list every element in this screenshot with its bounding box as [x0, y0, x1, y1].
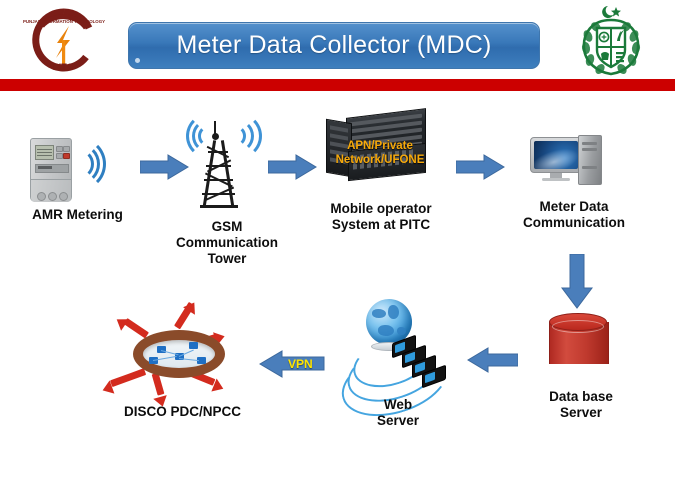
desktop-computer-icon	[530, 135, 602, 185]
page-title-banner: Meter Data Collector (MDC)	[128, 22, 540, 69]
pitc-logo-icon: PUNJAB INFORMATION TECHNOLOGY PITC	[22, 4, 106, 76]
government-emblem-icon	[575, 2, 647, 78]
network-wheel-icon	[111, 316, 246, 394]
connector-gsm-to-mobile	[268, 153, 318, 181]
meter-lcd	[35, 145, 54, 160]
connector-label-vpn: VPN	[288, 357, 313, 371]
server-fan-connections	[338, 337, 453, 391]
network-ring	[133, 330, 225, 378]
database-cylinder-icon	[549, 313, 607, 371]
node-label-amr-metering: AMR Metering	[0, 207, 155, 223]
node-meter-data-communication: Meter Data Communication	[500, 91, 675, 251]
header-red-divider	[0, 79, 675, 91]
slide-root: PUNJAB INFORMATION TECHNOLOGY PITC Meter…	[0, 0, 675, 504]
node-label-database-server: Data base Server	[505, 389, 657, 421]
svg-text:PITC: PITC	[53, 62, 74, 72]
web-server-globe-icon	[338, 299, 453, 391]
overlay-apn-network-text: APN/Private Network/UFONE	[318, 139, 442, 167]
node-web-server: Web Server	[330, 299, 480, 449]
header: PUNJAB INFORMATION TECHNOLOGY PITC Meter…	[0, 0, 675, 79]
node-label-meter-data-communication: Meter Data Communication	[500, 199, 648, 231]
connector-mdc-to-database	[560, 254, 596, 310]
gsm-signal-arcs-icon	[182, 113, 262, 157]
connector-mobile-to-mdc	[456, 153, 506, 181]
page-title: Meter Data Collector (MDC)	[177, 31, 492, 60]
node-disco-pdc-npcc: DISCO PDC/NPCC	[95, 316, 275, 446]
node-amr-metering: AMR Metering	[0, 91, 160, 231]
banner-highlight-dot	[135, 58, 140, 63]
node-label-disco-pdc-npcc: DISCO PDC/NPCC	[95, 404, 270, 420]
node-mobile-operator: APN/Private Network/UFONE Mobile operato…	[312, 91, 462, 291]
node-label-mobile-operator: Mobile operator System at PITC	[312, 201, 450, 233]
node-label-gsm-tower: GSM Communication Tower	[162, 219, 292, 267]
node-database-server: Data base Server	[505, 313, 665, 453]
node-gsm-tower: GSM Communication Tower	[162, 91, 302, 301]
node-label-web-server: Web Server	[330, 397, 466, 429]
svg-text:PUNJAB INFORMATION TECHNOLOGY: PUNJAB INFORMATION TECHNOLOGY	[23, 19, 105, 24]
meter-signal-waves-icon	[76, 143, 110, 183]
diagram-canvas: AMR Metering	[0, 91, 675, 504]
